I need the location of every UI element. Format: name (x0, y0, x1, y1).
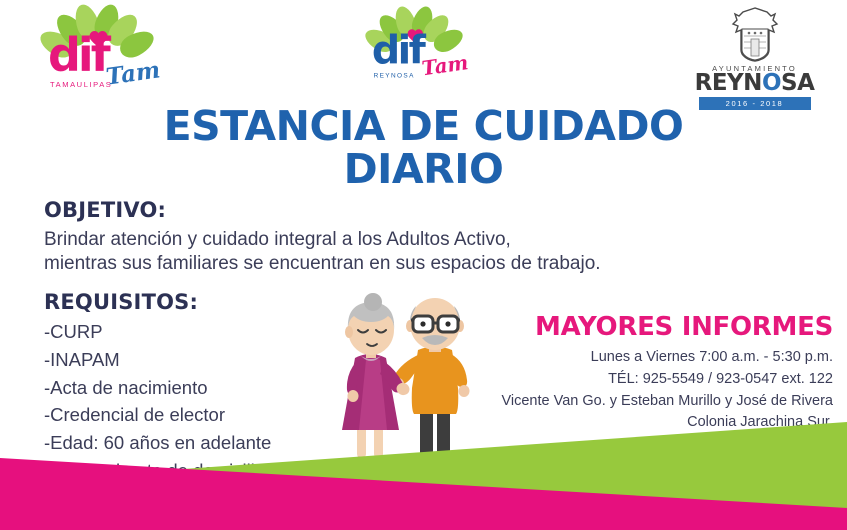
mayores-informes-section: MAYORES INFORMES Lunes a Viernes 7:00 a.… (461, 312, 833, 434)
dif-wordmark: dif (48, 32, 108, 78)
dif-subtitle: TAMAULIPAS (50, 80, 112, 89)
objetivo-section: OBJETIVO: Brindar atención y cuidado int… (44, 198, 784, 277)
reynosa-coat-of-arms-icon (729, 6, 781, 62)
informes-phone: TÉL: 925-5549 / 923-0547 ext. 122 (461, 369, 833, 391)
logo-dif-reynosa: dif REYNOSA Tam (365, 6, 468, 96)
dif-wordmark: dif (372, 30, 423, 70)
poster-title-line2: DIARIO (0, 148, 847, 191)
logo-ayuntamiento-reynosa: AYUNTAMIENTO REYNOSA 2016 - 2018 (692, 6, 817, 102)
mayores-informes-heading: MAYORES INFORMES (461, 312, 833, 342)
informes-address: Vicente Van Go. y Esteban Murillo y José… (461, 391, 833, 413)
seal-name-o: O (762, 70, 781, 96)
seal-name-part1: REYN (695, 70, 762, 96)
objetivo-line: Brindar atención y cuidado integral a lo… (44, 228, 784, 252)
poster-canvas: dif TAMAULIPAS Tam dif REYNOSA Tam (0, 0, 847, 530)
objetivo-heading: OBJETIVO: (44, 198, 784, 222)
dif-script-tam: Tam (420, 51, 469, 80)
logo-dif-tamaulipas: dif TAMAULIPAS Tam (40, 4, 160, 109)
seal-name: REYNOSA (692, 73, 817, 95)
poster-title-line1: ESTANCIA DE CUIDADO (0, 105, 847, 148)
seal-name-part2: SA (781, 70, 814, 96)
poster-title: ESTANCIA DE CUIDADO DIARIO (0, 105, 847, 192)
decorative-bottom-wedges (0, 420, 847, 530)
objetivo-line: mientras sus familiares se encuentran en… (44, 252, 784, 276)
informes-hours: Lunes a Viernes 7:00 a.m. - 5:30 p.m. (461, 347, 833, 369)
logo-row: dif TAMAULIPAS Tam dif REYNOSA Tam (0, 0, 847, 108)
dif-subtitle: REYNOSA (374, 71, 415, 79)
